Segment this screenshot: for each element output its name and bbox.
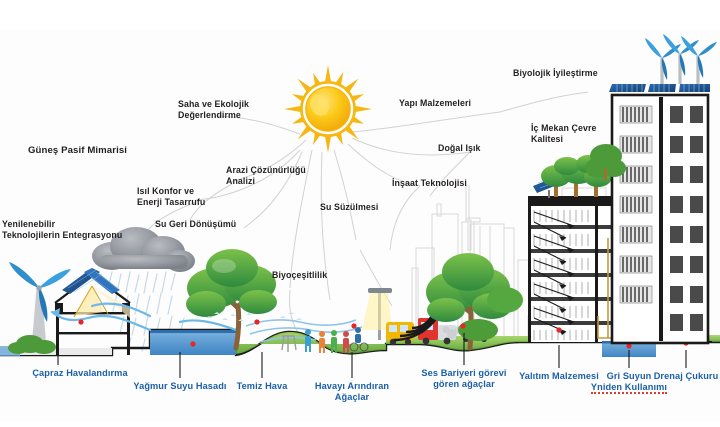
label-gunes-pasif-mimarisi: Güneş Pasif Mimarisi — [28, 145, 158, 157]
label-drenaj-cukuru: Drenaj Çukuru — [639, 371, 720, 382]
label-yenilenebilir-teknolojiler: Yenilenebilir Teknolojilerin Entegrasyon… — [2, 219, 142, 240]
label-saha-ve-ekolojik: Saha ve Ekolojik Değerlendirme — [178, 99, 288, 120]
label-biyolojik-iyilestirme: Biyolojik İyileştirme — [513, 68, 633, 79]
label-dogal-isik: Doğal Işık — [438, 143, 518, 154]
hotspot-marker — [351, 323, 356, 328]
label-su-geri-donusumu: Su Geri Dönüşümü — [155, 219, 265, 230]
diagram-root: Güneş Pasif MimarisiYenilenebilir Teknol… — [0, 0, 720, 427]
hotspot-marker — [460, 323, 465, 328]
label-capraz-havalandirma: Çapraz Havalandırma — [15, 368, 145, 379]
hotspot-marker — [254, 319, 259, 324]
label-arazi-cozunurlugu: Arazi Çözünürlüğü Analizi — [226, 165, 336, 186]
label-isil-konfor: Isıl Konfor ve Enerji Tasarrufu — [137, 186, 247, 207]
solar-panels-tower — [609, 84, 710, 92]
hotspot-marker — [190, 341, 195, 346]
label-ic-mekan-cevre-kalitesi: İç Mekan Çevre Kalitesi — [531, 123, 641, 144]
label-temiz-hava: Temiz Hava — [217, 381, 307, 392]
label-insaat-teknolojisi: İnşaat Teknolojisi — [392, 178, 497, 189]
hotspot-marker — [556, 327, 561, 332]
label-biyocesitlilik: Biyoçeşitlilik — [272, 270, 362, 281]
hotspot-marker — [78, 319, 83, 324]
label-havayi-arindiran: Havayı Arındıran Ağaçlar — [297, 381, 407, 403]
label-yapi-malzemeleri: Yapı Malzemeleri — [399, 98, 509, 109]
sustainable-architecture-illustration — [0, 0, 720, 427]
label-su-suzulmesi: Su Süzülmesi — [320, 202, 410, 213]
label-gri-suyun-yeniden-line2: Yniden Kullanımı — [591, 382, 667, 394]
